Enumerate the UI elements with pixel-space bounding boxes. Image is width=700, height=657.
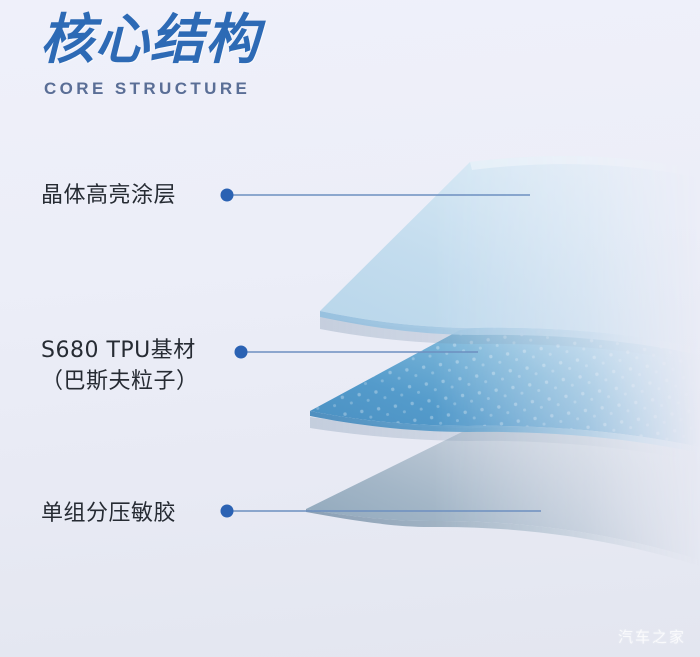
callout-label-substrate: S680 TPU基材 （巴斯夫粒子）	[41, 335, 199, 397]
callout-label-coating: 晶体高亮涂层	[41, 180, 176, 211]
core-structure-poster: 核心结构 CORE STRUCTURE 晶体高亮涂层 S680 TPU基材 （巴…	[0, 0, 700, 657]
crystal-coating-layer	[320, 156, 700, 364]
heading-block: 核心结构 CORE STRUCTURE	[40, 8, 460, 100]
dot-marker	[235, 346, 248, 359]
callout-label-adhesive: 单组分压敏胶	[41, 498, 176, 529]
callout-line-1: 晶体高亮涂层	[41, 183, 176, 208]
page-subtitle: CORE STRUCTURE	[44, 78, 460, 100]
dot-marker	[221, 505, 234, 518]
callout-line-2: （巴斯夫粒子）	[41, 366, 199, 397]
watermark: 汽车之家	[618, 626, 686, 647]
page-title: 核心结构	[40, 8, 460, 72]
dot-marker	[221, 189, 234, 202]
callout-line-1: S680 TPU基材	[41, 338, 196, 363]
callout-line-1: 单组分压敏胶	[41, 501, 176, 526]
